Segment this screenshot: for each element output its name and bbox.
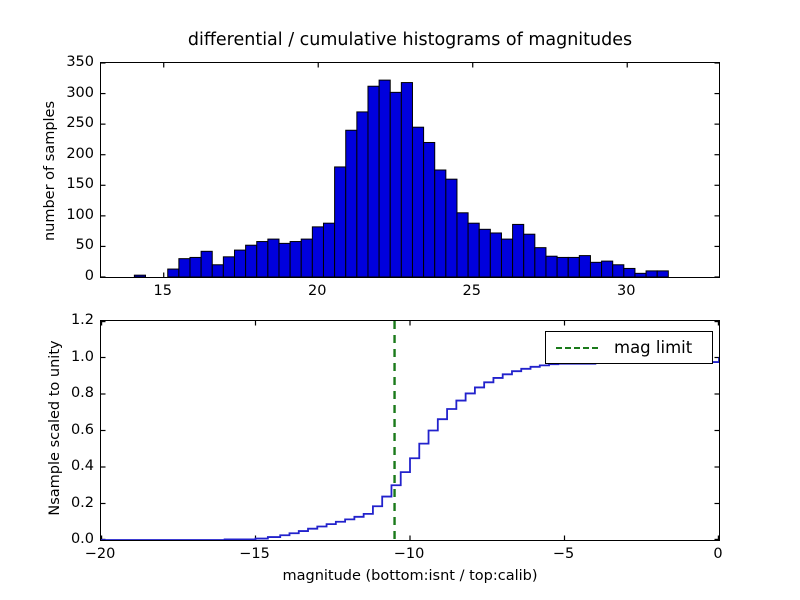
bottom-xtick-label: −10 — [394, 546, 425, 562]
bottom-xtick-label: −20 — [85, 546, 116, 562]
top-xtick-label: 15 — [153, 283, 171, 299]
mag-limit-line-icon — [556, 347, 598, 349]
top-histogram-axes — [100, 62, 720, 278]
bottom-ytick-label: 0.8 — [38, 385, 94, 401]
bottom-ytick-label: 1.0 — [38, 349, 94, 365]
top-ytick-label: 50 — [38, 237, 94, 253]
matplotlib-figure: differential / cumulative histograms of … — [0, 0, 800, 600]
bottom-ytick-label: 0.6 — [38, 422, 94, 438]
top-ytick-label: 250 — [38, 115, 94, 131]
legend[interactable]: mag limit — [545, 331, 713, 364]
top-ytick-label: 0 — [38, 268, 94, 284]
bottom-xlabel: magnitude (bottom:isnt / top:calib) — [100, 568, 720, 584]
top-ytick-label: 350 — [38, 54, 94, 70]
legend-label-mag-limit: mag limit — [614, 338, 692, 357]
bottom-xtick-label: −5 — [553, 546, 574, 562]
top-xtick-label: 30 — [617, 283, 635, 299]
bottom-ytick-label: 0.2 — [38, 495, 94, 511]
top-ytick-label: 100 — [38, 207, 94, 223]
bottom-ytick-label: 1.2 — [38, 312, 94, 328]
bottom-xtick-label: 0 — [713, 546, 722, 562]
top-xtick-label: 25 — [462, 283, 480, 299]
top-histogram-plot — [101, 63, 719, 277]
bottom-ytick-label: 0.0 — [38, 531, 94, 547]
figure-title: differential / cumulative histograms of … — [100, 30, 720, 50]
top-ytick-label: 300 — [38, 85, 94, 101]
top-xtick-label: 20 — [308, 283, 326, 299]
top-ytick-label: 150 — [38, 176, 94, 192]
bottom-xtick-label: −15 — [239, 546, 270, 562]
top-ytick-label: 200 — [38, 146, 94, 162]
bottom-ytick-label: 0.4 — [38, 458, 94, 474]
